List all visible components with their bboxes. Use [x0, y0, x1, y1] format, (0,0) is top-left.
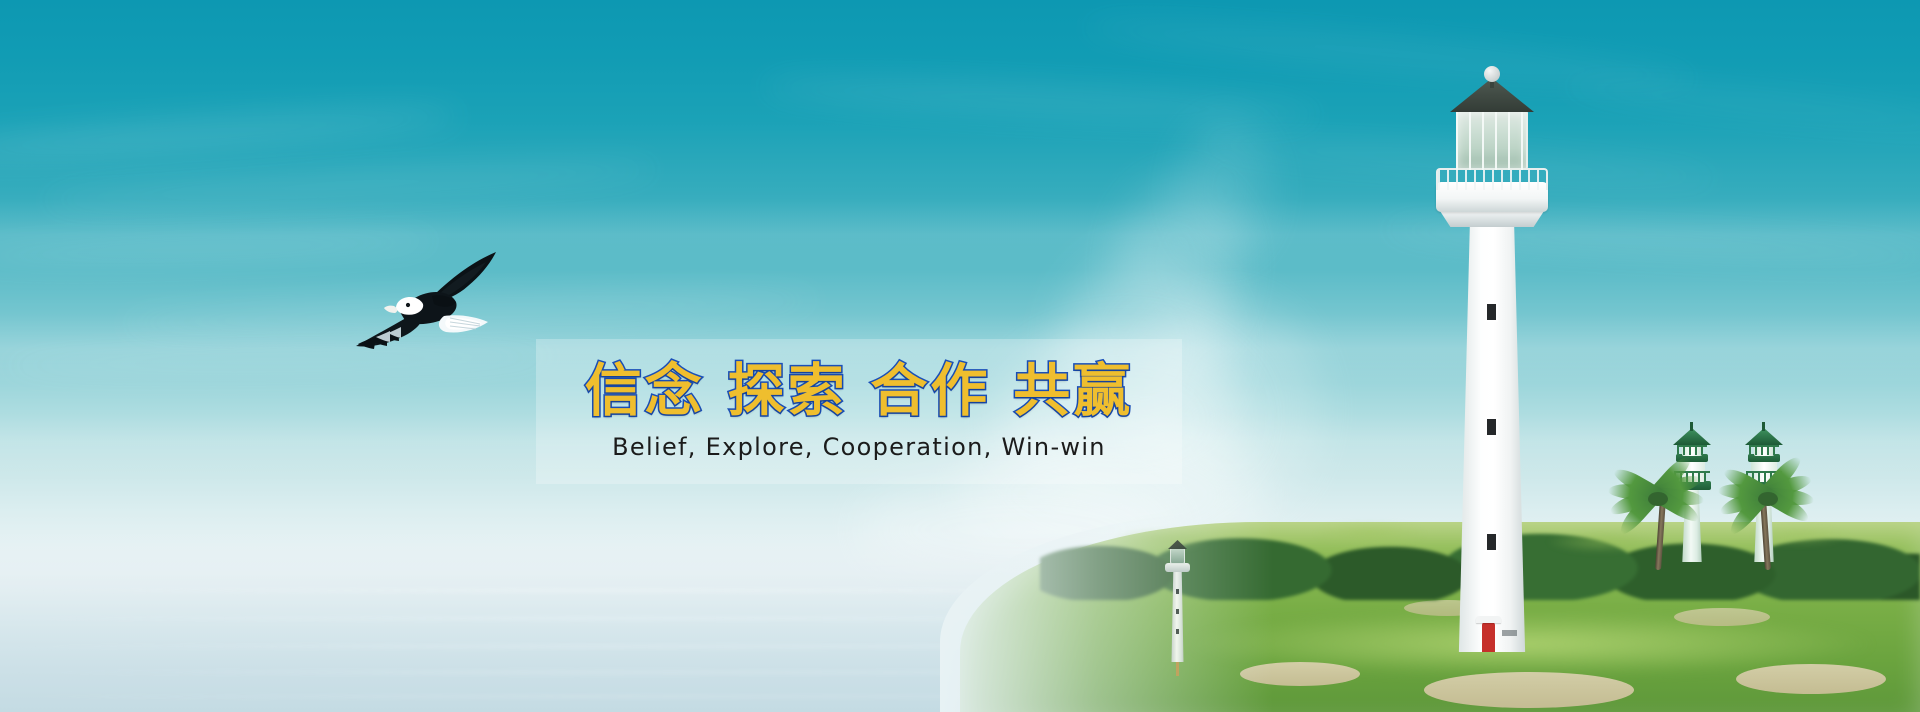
tower-railing [1677, 445, 1707, 455]
subheadline-english: Belief, Explore, Cooperation, Win-win [612, 433, 1106, 461]
lighthouse-window [1176, 609, 1179, 614]
eagle-icon [340, 238, 510, 358]
lighthouse-shaft [1446, 222, 1538, 652]
palm-tree-left [1610, 458, 1706, 570]
lighthouse-signage [1502, 630, 1517, 636]
palm-crown [1648, 492, 1668, 506]
sand-bunker [1240, 662, 1360, 686]
hero-banner: 信念 探索 合作 共赢 Belief, Explore, Cooperation… [0, 0, 1920, 712]
lighthouse-corbel [1440, 211, 1544, 227]
tower-spire [1762, 422, 1765, 431]
lighthouse-window [1485, 417, 1498, 437]
lighthouse-lantern-mullions [1456, 110, 1528, 170]
lighthouse-window [1176, 629, 1179, 634]
lighthouse-roof [1168, 540, 1187, 549]
lighthouse-door [1482, 622, 1495, 652]
lighthouse-lantern [1170, 548, 1185, 564]
lighthouse-window [1485, 532, 1498, 552]
lighthouse-door-hood [1476, 616, 1501, 623]
palm-crown [1758, 492, 1778, 506]
sand-bunker [1424, 672, 1634, 708]
slogan-panel: 信念 探索 合作 共赢 Belief, Explore, Cooperation… [536, 339, 1182, 484]
main-lighthouse [1432, 132, 1552, 652]
palm-tree-right [1720, 458, 1816, 570]
lighthouse-window [1176, 589, 1179, 594]
lighthouse-railing [1436, 168, 1548, 190]
lighthouse-window [1485, 302, 1498, 322]
tower-railing [1749, 445, 1779, 455]
lighthouse-shaft [1170, 570, 1185, 662]
tower-spire [1690, 422, 1693, 431]
sand-bunker [1674, 608, 1770, 626]
lighthouse-finial [1484, 66, 1500, 82]
headline-chinese: 信念 探索 合作 共赢 [585, 362, 1134, 422]
distant-lighthouse [1157, 532, 1197, 662]
lighthouse-gallery [1165, 563, 1190, 572]
sand-bunker [1736, 664, 1886, 694]
